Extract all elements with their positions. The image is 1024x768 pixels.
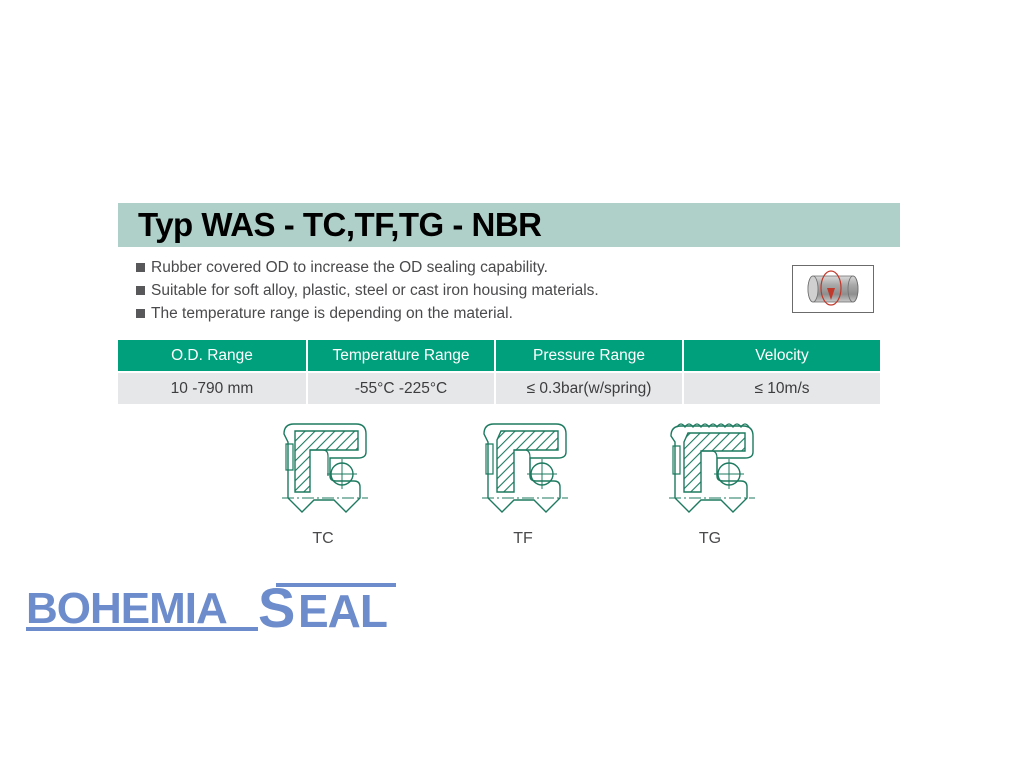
table-cell-od-range: 10 -790 mm: [118, 373, 306, 404]
feature-item: Rubber covered OD to increase the OD sea…: [136, 258, 736, 281]
table-cell-pressure-range: ≤ 0.3bar(w/spring): [496, 373, 682, 404]
bullet-square-icon: [136, 286, 145, 295]
bohemia-seal-logo: BOHEMIA S EAL: [18, 575, 418, 637]
table-header-cell: Velocity: [684, 340, 880, 371]
table-row: 10 -790 mm -55°C -225°C ≤ 0.3bar(w/sprin…: [118, 373, 876, 404]
title-banner: Typ WAS - TC,TF,TG - NBR: [118, 203, 900, 247]
table-header-row: O.D. Range Temperature Range Pressure Ra…: [118, 340, 876, 371]
table-header-cell: Temperature Range: [308, 340, 494, 371]
logo-word-s: S: [258, 576, 295, 637]
table-cell-velocity: ≤ 10m/s: [684, 373, 880, 404]
feature-label: The temperature range is depending on th…: [151, 304, 513, 324]
seal-cross-section-tg: [655, 418, 765, 523]
seal-cross-section-tf: [468, 418, 578, 523]
seal-diagram-gallery: TC TF: [118, 418, 878, 553]
bullet-square-icon: [136, 309, 145, 318]
seal-diagram-tc: TC: [258, 418, 388, 548]
logo-word-bohemia: BOHEMIA: [26, 584, 227, 633]
seal-label: TG: [645, 530, 775, 548]
seal-diagram-tg: TG: [645, 418, 775, 548]
seal-cross-section-tc: [268, 418, 378, 523]
table-cell-temperature-range: -55°C -225°C: [308, 373, 494, 404]
seal-diagram-tf: TF: [458, 418, 588, 548]
seal-label: TC: [258, 530, 388, 548]
spec-table: O.D. Range Temperature Range Pressure Ra…: [118, 340, 876, 404]
feature-item: Suitable for soft alloy, plastic, steel …: [136, 281, 736, 304]
feature-list: Rubber covered OD to increase the OD sea…: [136, 258, 736, 327]
table-header-cell: O.D. Range: [118, 340, 306, 371]
logo-word-eal: EAL: [298, 585, 387, 637]
bullet-square-icon: [136, 263, 145, 272]
seal-label: TF: [458, 530, 588, 548]
feature-item: The temperature range is depending on th…: [136, 304, 736, 327]
feature-label: Rubber covered OD to increase the OD sea…: [151, 258, 548, 278]
rotating-shaft-icon: [792, 265, 874, 313]
table-header-cell: Pressure Range: [496, 340, 682, 371]
page-title: Typ WAS - TC,TF,TG - NBR: [138, 206, 542, 244]
feature-label: Suitable for soft alloy, plastic, steel …: [151, 281, 599, 301]
